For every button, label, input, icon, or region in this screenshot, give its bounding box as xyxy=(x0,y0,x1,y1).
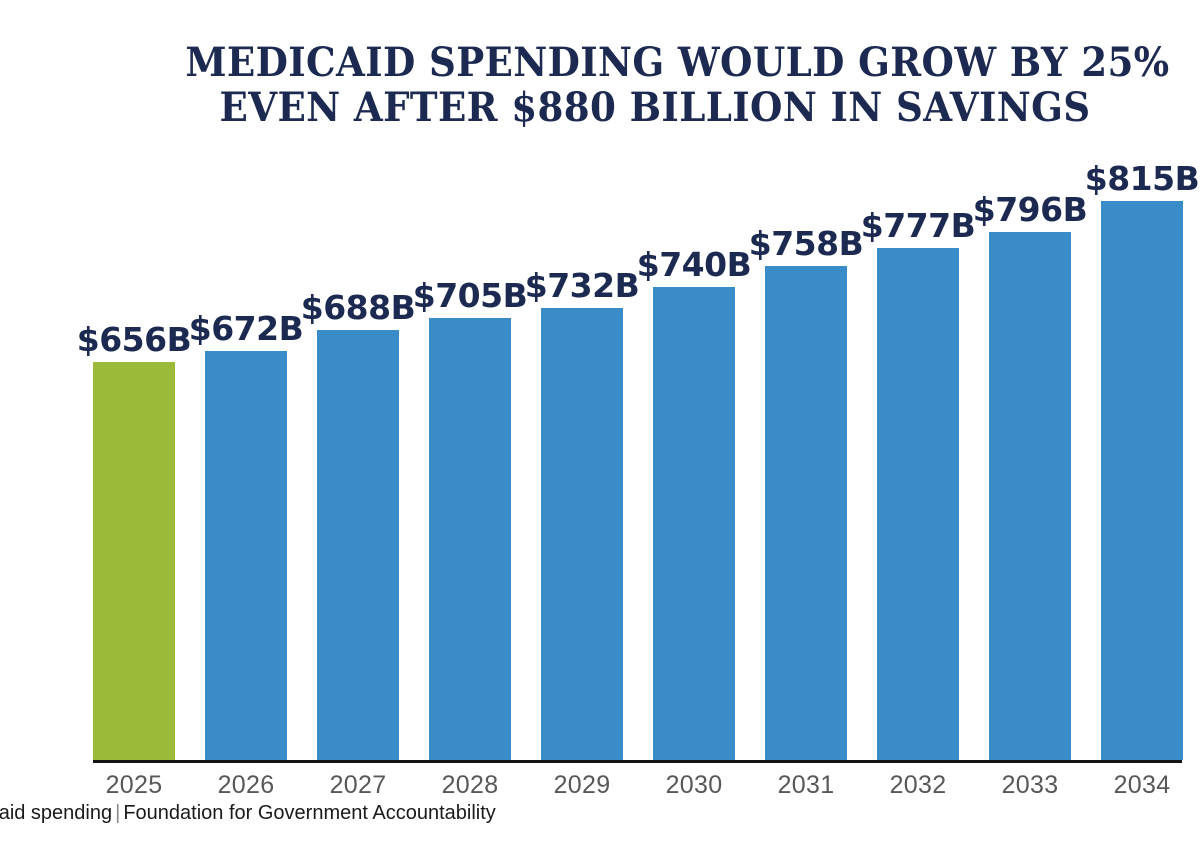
bar-group-2031[interactable]: $758B xyxy=(765,150,847,760)
x-axis-line xyxy=(93,760,1182,763)
caption-source-text: edicaid spending xyxy=(0,802,112,824)
bar-value-label-2030: $740B xyxy=(637,248,752,281)
x-tick-2032: 2032 xyxy=(877,768,959,804)
x-tick-2029: 2029 xyxy=(541,768,623,804)
bar-group-2030[interactable]: $740B xyxy=(653,150,735,760)
bar-group-2027[interactable]: $688B xyxy=(317,150,399,760)
bar-rect-2029[interactable] xyxy=(541,308,623,760)
bar-rect-2031[interactable] xyxy=(765,266,847,760)
bar-rect-2026[interactable] xyxy=(205,351,287,760)
x-tick-2025: 2025 xyxy=(93,768,175,804)
x-tick-2026: 2026 xyxy=(205,768,287,804)
x-tick-2030: 2030 xyxy=(653,768,735,804)
bar-rect-2033[interactable] xyxy=(989,232,1071,760)
x-tick-2027: 2027 xyxy=(317,768,399,804)
plot-area: $656B $672B $688B $705B $732B $740B xyxy=(93,150,1183,762)
bar-value-label-2031: $758B xyxy=(749,227,864,260)
chart-title-line-1: MEDICAID SPENDING WOULD GROW BY 25% xyxy=(185,40,1124,85)
bar-value-label-2028: $705B xyxy=(413,279,528,312)
bar-series: $656B $672B $688B $705B $732B $740B xyxy=(93,150,1183,760)
bar-rect-2030[interactable] xyxy=(653,287,735,760)
bar-value-label-2034: $815B xyxy=(1085,162,1200,195)
caption-organization: Foundation for Government Accountability xyxy=(123,802,495,824)
x-tick-2028: 2028 xyxy=(429,768,511,804)
bar-rect-2027[interactable] xyxy=(317,330,399,760)
bar-rect-2025[interactable] xyxy=(93,362,175,760)
bar-value-label-2026: $672B xyxy=(189,312,304,345)
bar-value-label-2029: $732B xyxy=(525,269,640,302)
bar-value-label-2032: $777B xyxy=(861,209,976,242)
caption-separator: | xyxy=(112,802,123,824)
bar-group-2025[interactable]: $656B xyxy=(93,150,175,760)
bar-value-label-2025: $656B xyxy=(77,323,192,356)
bar-rect-2032[interactable] xyxy=(877,248,959,760)
bar-rect-2034[interactable] xyxy=(1101,201,1183,760)
bar-value-label-2027: $688B xyxy=(301,291,416,324)
x-tick-2031: 2031 xyxy=(765,768,847,804)
bar-value-label-2033: $796B xyxy=(973,193,1088,226)
chart-card: MEDICAID SPENDING WOULD GROW BY 25% EVEN… xyxy=(0,0,1200,800)
bar-group-2033[interactable]: $796B xyxy=(989,150,1071,760)
bar-group-2032[interactable]: $777B xyxy=(877,150,959,760)
x-axis-tick-labels: 2025 2026 2027 2028 2029 2030 2031 2032 … xyxy=(93,768,1183,804)
bar-group-2034[interactable]: $815B xyxy=(1101,150,1183,760)
chart-title: MEDICAID SPENDING WOULD GROW BY 25% EVEN… xyxy=(150,40,1160,130)
source-caption: edicaid spending|Foundation for Governme… xyxy=(0,800,662,826)
bar-group-2028[interactable]: $705B xyxy=(429,150,511,760)
x-tick-2033: 2033 xyxy=(989,768,1071,804)
bar-group-2026[interactable]: $672B xyxy=(205,150,287,760)
bar-group-2029[interactable]: $732B xyxy=(541,150,623,760)
chart-title-line-2: EVEN AFTER $880 BILLION IN SAVINGS xyxy=(185,85,1124,130)
x-tick-2034: 2034 xyxy=(1101,768,1183,804)
bar-rect-2028[interactable] xyxy=(429,318,511,760)
